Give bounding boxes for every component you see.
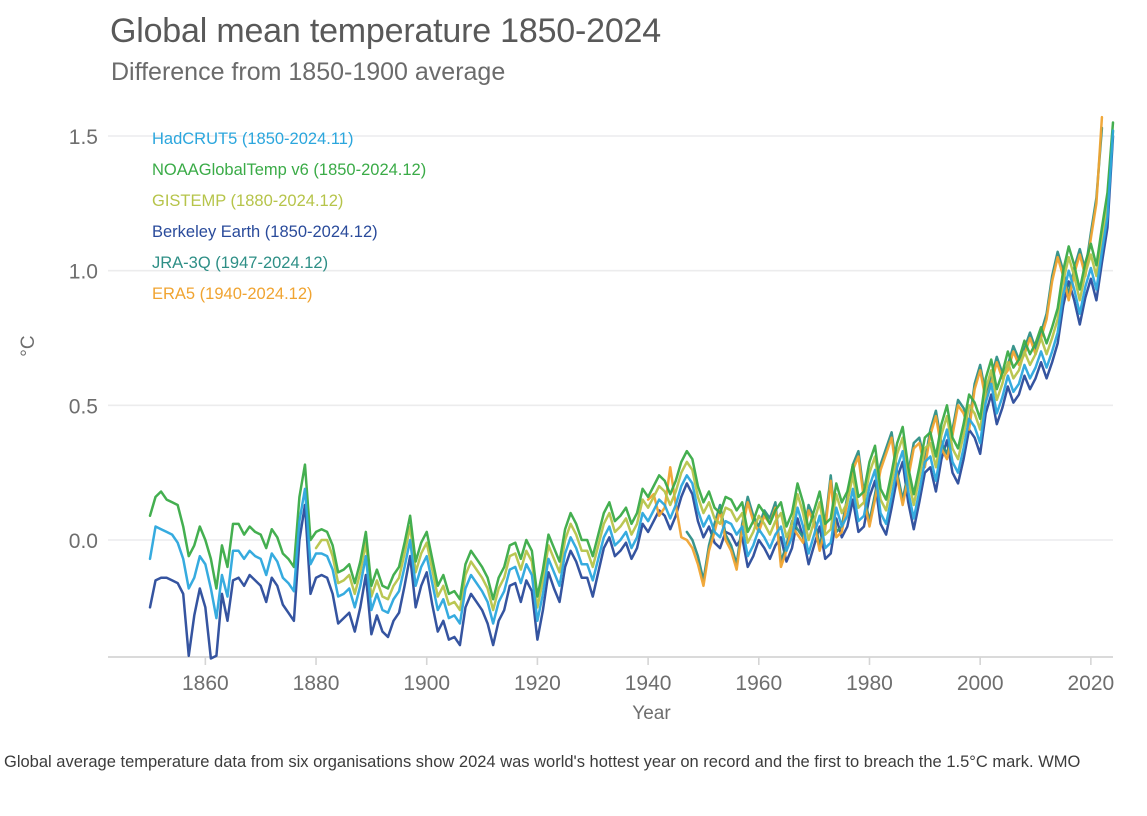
x-tick-label: 1980 <box>846 672 893 695</box>
page-subtitle: Difference from 1850-1900 average <box>111 58 505 87</box>
legend-item[interactable]: Berkeley Earth (1850-2024.12) <box>152 223 378 241</box>
legend-item[interactable]: NOAAGlobalTemp v6 (1850-2024.12) <box>152 161 426 179</box>
x-tick-label: 2020 <box>1068 672 1115 695</box>
x-tick-label: 1940 <box>625 672 672 695</box>
legend-item[interactable]: JRA-3Q (1947-2024.12) <box>152 254 328 272</box>
temperature-chart: 0.00.51.01.5°C18601880190019201940196019… <box>0 96 1147 720</box>
legend-item[interactable]: GISTEMP (1880-2024.12) <box>152 192 343 210</box>
x-tick-label: 2000 <box>957 672 1004 695</box>
x-tick-label: 1900 <box>403 672 450 695</box>
x-tick-label: 1880 <box>293 672 340 695</box>
legend-item[interactable]: HadCRUT5 (1850-2024.11) <box>152 130 353 148</box>
y-axis-title: °C <box>18 335 39 356</box>
legend-item[interactable]: ERA5 (1940-2024.12) <box>152 285 313 303</box>
y-tick-label: 1.0 <box>69 261 98 284</box>
figure-caption: Global average temperature data from six… <box>4 750 1139 776</box>
y-tick-label: 0.0 <box>69 530 98 553</box>
y-tick-label: 1.5 <box>69 126 98 149</box>
chart-svg: 0.00.51.01.5°C18601880190019201940196019… <box>0 96 1147 720</box>
x-tick-label: 1960 <box>735 672 782 695</box>
page-title: Global mean temperature 1850-2024 <box>110 12 661 51</box>
x-axis-title: Year <box>632 703 671 720</box>
y-tick-label: 0.5 <box>69 395 98 418</box>
chart-page: Global mean temperature 1850-2024 Differ… <box>0 0 1147 816</box>
x-tick-label: 1920 <box>514 672 561 695</box>
x-tick-label: 1860 <box>182 672 229 695</box>
